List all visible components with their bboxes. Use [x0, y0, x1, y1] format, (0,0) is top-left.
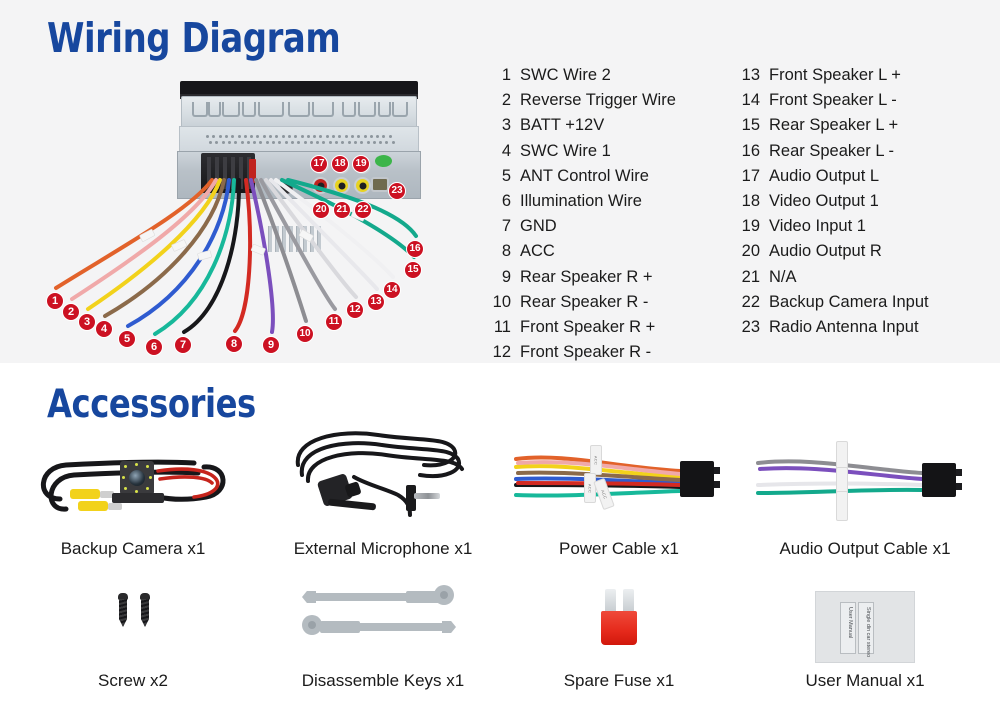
- vent-hole: [310, 141, 313, 144]
- legend-label: Rear Speaker R -: [511, 290, 648, 315]
- legend-label: ACC: [511, 239, 555, 264]
- manual-cover: User Manual Single din car stereo: [815, 591, 915, 663]
- accessory-caption: External Microphone x1: [258, 539, 508, 559]
- vent-hole: [294, 135, 297, 138]
- legend-label: GND: [511, 214, 557, 239]
- legend-row: 12Front Speaker R -: [484, 340, 676, 365]
- legend-row: 9Rear Speaker R +: [484, 265, 676, 290]
- vent-hole: [215, 141, 218, 144]
- callout-badge-wire-10: 10: [296, 325, 314, 343]
- accessory-item-audio-cable: Audio Output Cable x1: [740, 423, 990, 559]
- accessory-item-user-manual: User Manual Single din car stereo User M…: [740, 571, 990, 691]
- vent-hole: [360, 141, 363, 144]
- legend-row: 20Audio Output R: [733, 239, 929, 264]
- legend-number: 13: [733, 63, 760, 88]
- legend-row: 15Rear Speaker L +: [733, 113, 929, 138]
- vent-hole: [234, 141, 237, 144]
- legend-label: Video Input 1: [760, 214, 866, 239]
- fuse-leg: [605, 589, 616, 611]
- vent-hole: [370, 135, 373, 138]
- audio-cable-wires: [740, 423, 990, 533]
- callout-badge-wire-1: 1: [46, 292, 64, 310]
- legend-number: 1: [484, 63, 511, 88]
- legend-number: 12: [484, 340, 511, 365]
- legend-number: 6: [484, 189, 511, 214]
- vent-hole: [282, 135, 285, 138]
- vent-hole: [291, 141, 294, 144]
- vent-hole: [272, 141, 275, 144]
- callout-badge-port-19: 19: [352, 155, 370, 173]
- legend-row: 17Audio Output L: [733, 164, 929, 189]
- vent-hole: [316, 141, 319, 144]
- accessories-section: Accessories: [0, 363, 1000, 719]
- backup-camera-image: [8, 423, 258, 533]
- legend-column-left: 1SWC Wire 22Reverse Trigger Wire3BATT +1…: [484, 63, 676, 365]
- vent-hole: [382, 135, 385, 138]
- legend-row: 8ACC: [484, 239, 676, 264]
- vent-hole: [266, 141, 269, 144]
- accessory-item-disassemble-keys: Disassemble Keys x1: [258, 571, 508, 691]
- vent-hole: [338, 135, 341, 138]
- accessory-item-microphone: External Microphone x1: [258, 423, 508, 559]
- camera-mount-bracket: [112, 493, 164, 503]
- vent-hole: [341, 141, 344, 144]
- legend-number: 17: [733, 164, 760, 189]
- legend-number: 5: [484, 164, 511, 189]
- legend-row: 19Video Input 1: [733, 214, 929, 239]
- legend-number: 8: [484, 239, 511, 264]
- callout-badge-wire-15: 15: [404, 261, 422, 279]
- vent-hole: [228, 141, 231, 144]
- vent-hole: [209, 141, 212, 144]
- accessory-caption: Backup Camera x1: [8, 539, 258, 559]
- legend-number: 7: [484, 214, 511, 239]
- disassemble-key: [302, 589, 462, 601]
- callout-badge-port-20: 20: [312, 201, 330, 219]
- legend-row: 2Reverse Trigger Wire: [484, 88, 676, 113]
- accessory-caption: Audio Output Cable x1: [740, 539, 990, 559]
- user-manual-image: User Manual Single din car stereo: [740, 571, 990, 661]
- wiring-diagram-title: Wiring Diagram: [47, 14, 340, 62]
- vent-hole: [225, 135, 228, 138]
- reset-button-green: [375, 155, 392, 167]
- vent-hole: [253, 141, 256, 144]
- page-root: Wiring Diagram: [0, 0, 1000, 719]
- vent-hole: [275, 135, 278, 138]
- microphone-image: [258, 423, 508, 533]
- manual-title-strip: User Manual: [840, 602, 856, 654]
- callout-badge-wire-7: 7: [174, 336, 192, 354]
- legend-number: 15: [733, 113, 760, 138]
- bracket-slots: [192, 102, 408, 118]
- callout-badge-wire-13: 13: [367, 293, 385, 311]
- vent-hole: [348, 141, 351, 144]
- vent-hole: [313, 135, 316, 138]
- vent-hole: [222, 141, 225, 144]
- callout-badge-wire-2: 2: [62, 303, 80, 321]
- legend-label: Radio Antenna Input: [760, 315, 919, 340]
- vent-hole: [304, 141, 307, 144]
- audio-output-cable-image: [740, 423, 990, 533]
- legend-row: 3BATT +12V: [484, 113, 676, 138]
- vent-hole: [354, 141, 357, 144]
- power-cable-wires: [494, 423, 744, 533]
- legend-label: Front Speaker L +: [760, 63, 901, 88]
- legend-label: Rear Speaker R +: [511, 265, 653, 290]
- vent-hole: [297, 141, 300, 144]
- vent-hole: [247, 141, 250, 144]
- microphone-3.5mm-plug: [414, 493, 440, 499]
- legend-number: 22: [733, 290, 760, 315]
- microphone-cable-coil: [258, 423, 508, 533]
- camera-lens: [129, 470, 145, 486]
- vent-hole: [263, 135, 266, 138]
- legend-label: Audio Output R: [760, 239, 882, 264]
- vent-hole: [332, 135, 335, 138]
- legend-number: 18: [733, 189, 760, 214]
- legend-label: Rear Speaker L +: [760, 113, 898, 138]
- callout-badge-wire-9: 9: [262, 336, 280, 354]
- screw: [118, 593, 128, 633]
- legend-row: 22Backup Camera Input: [733, 290, 929, 315]
- vent-hole: [259, 141, 262, 144]
- callout-badge-wire-5: 5: [118, 330, 136, 348]
- cable-ziptie: ACC: [590, 445, 602, 475]
- fuse-leg: [623, 589, 634, 611]
- vent-hole: [385, 141, 388, 144]
- callout-badge-wire-8: 8: [225, 335, 243, 353]
- legend-number: 9: [484, 265, 511, 290]
- legend-label: Front Speaker R -: [511, 340, 651, 365]
- vent-hole: [322, 141, 325, 144]
- accessory-caption: Screw x2: [8, 671, 258, 691]
- legend-row: 16Rear Speaker L -: [733, 139, 929, 164]
- accessory-caption: User Manual x1: [740, 671, 990, 691]
- vent-hole: [212, 135, 215, 138]
- vent-hole: [238, 135, 241, 138]
- vent-hole: [256, 135, 259, 138]
- vent-hole: [351, 135, 354, 138]
- legend-row: 6Illumination Wire: [484, 189, 676, 214]
- vent-hole: [288, 135, 291, 138]
- callout-badge-wire-14: 14: [383, 281, 401, 299]
- legend-number: 20: [733, 239, 760, 264]
- vent-hole: [367, 141, 370, 144]
- fuse-body: [601, 611, 637, 645]
- legend-number: 11: [484, 315, 511, 340]
- wiring-diagram-section: Wiring Diagram: [0, 0, 1000, 363]
- stereo-vent-holes: [206, 135, 396, 149]
- legend-label: Illumination Wire: [511, 189, 642, 214]
- screw: [140, 593, 150, 633]
- accessory-item-spare-fuse: Spare Fuse x1: [494, 571, 744, 691]
- legend-row: 18Video Output 1: [733, 189, 929, 214]
- vent-hole: [389, 135, 392, 138]
- accessory-item-power-cable: ACC ACC ACC Power Cable x1: [494, 423, 744, 559]
- legend-number: 23: [733, 315, 760, 340]
- callout-badge-port-18: 18: [331, 155, 349, 173]
- legend-number: 2: [484, 88, 511, 113]
- accessory-caption: Spare Fuse x1: [494, 671, 744, 691]
- vent-hole: [219, 135, 222, 138]
- legend-label: Front Speaker R +: [511, 315, 655, 340]
- legend-label: Front Speaker L -: [760, 88, 897, 113]
- legend-label: Reverse Trigger Wire: [511, 88, 676, 113]
- legend-row: 1SWC Wire 2: [484, 63, 676, 88]
- callout-badge-port-22: 22: [354, 201, 372, 219]
- vent-hole: [357, 135, 360, 138]
- vent-hole: [392, 141, 395, 144]
- vent-hole: [376, 135, 379, 138]
- legend-label: Video Output 1: [760, 189, 879, 214]
- accessories-title: Accessories: [47, 382, 256, 427]
- legend-label: Audio Output L: [760, 164, 879, 189]
- legend-label: Backup Camera Input: [760, 290, 929, 315]
- legend-label: SWC Wire 1: [511, 139, 611, 164]
- legend-number: 21: [733, 265, 760, 290]
- camera-housing: [120, 461, 154, 495]
- legend-row: 13Front Speaker L +: [733, 63, 929, 88]
- legend-number: 19: [733, 214, 760, 239]
- vent-hole: [244, 135, 247, 138]
- legend-row: 10Rear Speaker R -: [484, 290, 676, 315]
- callout-badge-port-17: 17: [310, 155, 328, 173]
- vent-hole: [326, 135, 329, 138]
- accessory-item-screws: Screw x2: [8, 571, 258, 691]
- accessory-item-backup-camera: Backup Camera x1: [8, 423, 258, 559]
- screws-image: [8, 571, 258, 661]
- legend-row: 11Front Speaker R +: [484, 315, 676, 340]
- disassemble-keys-image: [258, 571, 508, 661]
- vent-hole: [379, 141, 382, 144]
- callout-badge-wire-4: 4: [95, 320, 113, 338]
- legend-number: 14: [733, 88, 760, 113]
- cable-ziptie: [836, 491, 848, 521]
- callout-badge-wire-6: 6: [145, 338, 163, 356]
- legend-row: 4SWC Wire 1: [484, 139, 676, 164]
- callout-badge-port-23: 23: [388, 182, 406, 200]
- power-cable-image: ACC ACC ACC: [494, 423, 744, 533]
- vent-hole: [285, 141, 288, 144]
- vent-hole: [206, 135, 209, 138]
- vent-hole: [307, 135, 310, 138]
- callout-badge-port-21: 21: [333, 201, 351, 219]
- vent-hole: [241, 141, 244, 144]
- vent-hole: [250, 135, 253, 138]
- legend-label: BATT +12V: [511, 113, 604, 138]
- legend-row: 14Front Speaker L -: [733, 88, 929, 113]
- vent-hole: [231, 135, 234, 138]
- legend-label: ANT Control Wire: [511, 164, 649, 189]
- vent-hole: [278, 141, 281, 144]
- vent-hole: [364, 135, 367, 138]
- accessory-caption: Power Cable x1: [494, 539, 744, 559]
- vent-hole: [319, 135, 322, 138]
- legend-number: 4: [484, 139, 511, 164]
- vent-hole: [269, 135, 272, 138]
- legend-row: 23Radio Antenna Input: [733, 315, 929, 340]
- legend-label: N/A: [760, 265, 797, 290]
- legend-row: 5ANT Control Wire: [484, 164, 676, 189]
- legend-column-right: 13Front Speaker L +14Front Speaker L -15…: [733, 63, 929, 340]
- legend-row: 7GND: [484, 214, 676, 239]
- spare-fuse-image: [494, 571, 744, 661]
- legend-label: Rear Speaker L -: [760, 139, 894, 164]
- legend-row: 21N/A: [733, 265, 929, 290]
- cable-ziptie: ACC: [584, 473, 596, 503]
- disassemble-key: [302, 619, 462, 631]
- legend-number: 16: [733, 139, 760, 164]
- legend-number: 10: [484, 290, 511, 315]
- callout-badge-wire-11: 11: [325, 313, 343, 331]
- callout-badge-wire-16: 16: [406, 240, 424, 258]
- vent-hole: [329, 141, 332, 144]
- vent-hole: [345, 135, 348, 138]
- legend-label: SWC Wire 2: [511, 63, 611, 88]
- vent-hole: [335, 141, 338, 144]
- vent-hole: [373, 141, 376, 144]
- manual-subtitle-strip: Single din car stereo: [858, 602, 874, 654]
- callout-badge-wire-12: 12: [346, 301, 364, 319]
- vent-hole: [301, 135, 304, 138]
- callout-badge-wire-3: 3: [78, 313, 96, 331]
- legend-number: 3: [484, 113, 511, 138]
- accessory-caption: Disassemble Keys x1: [258, 671, 508, 691]
